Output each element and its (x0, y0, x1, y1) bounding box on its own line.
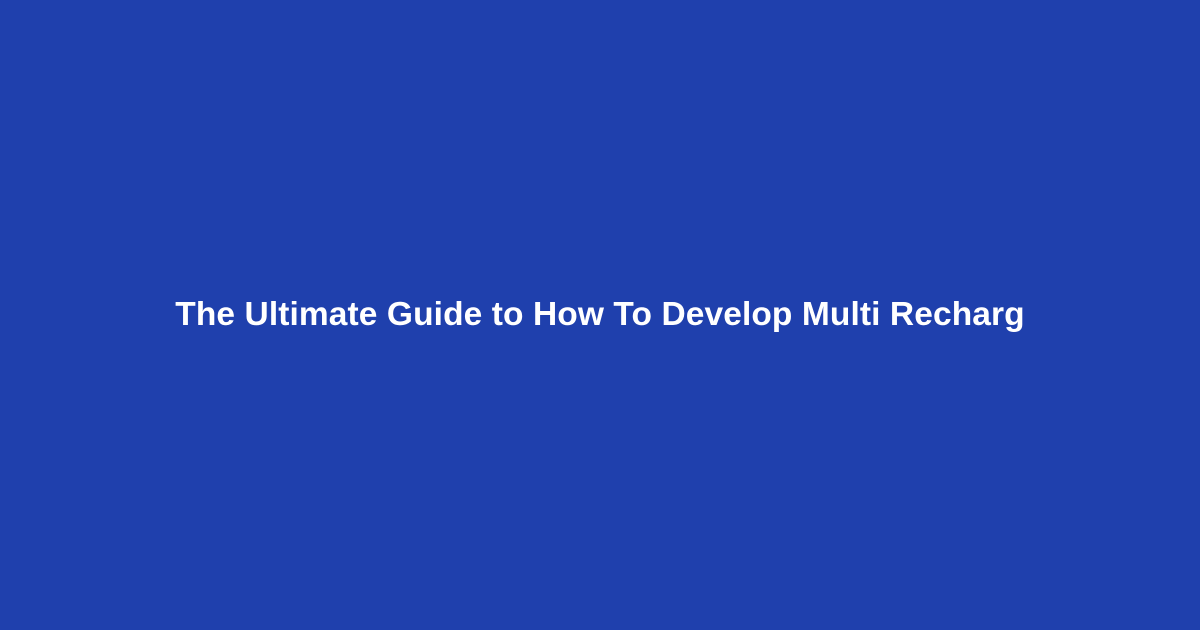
headline-container: The Ultimate Guide to How To Develop Mul… (60, 294, 1140, 336)
page-title: The Ultimate Guide to How To Develop Mul… (175, 294, 1024, 336)
og-share-card: The Ultimate Guide to How To Develop Mul… (0, 0, 1200, 630)
